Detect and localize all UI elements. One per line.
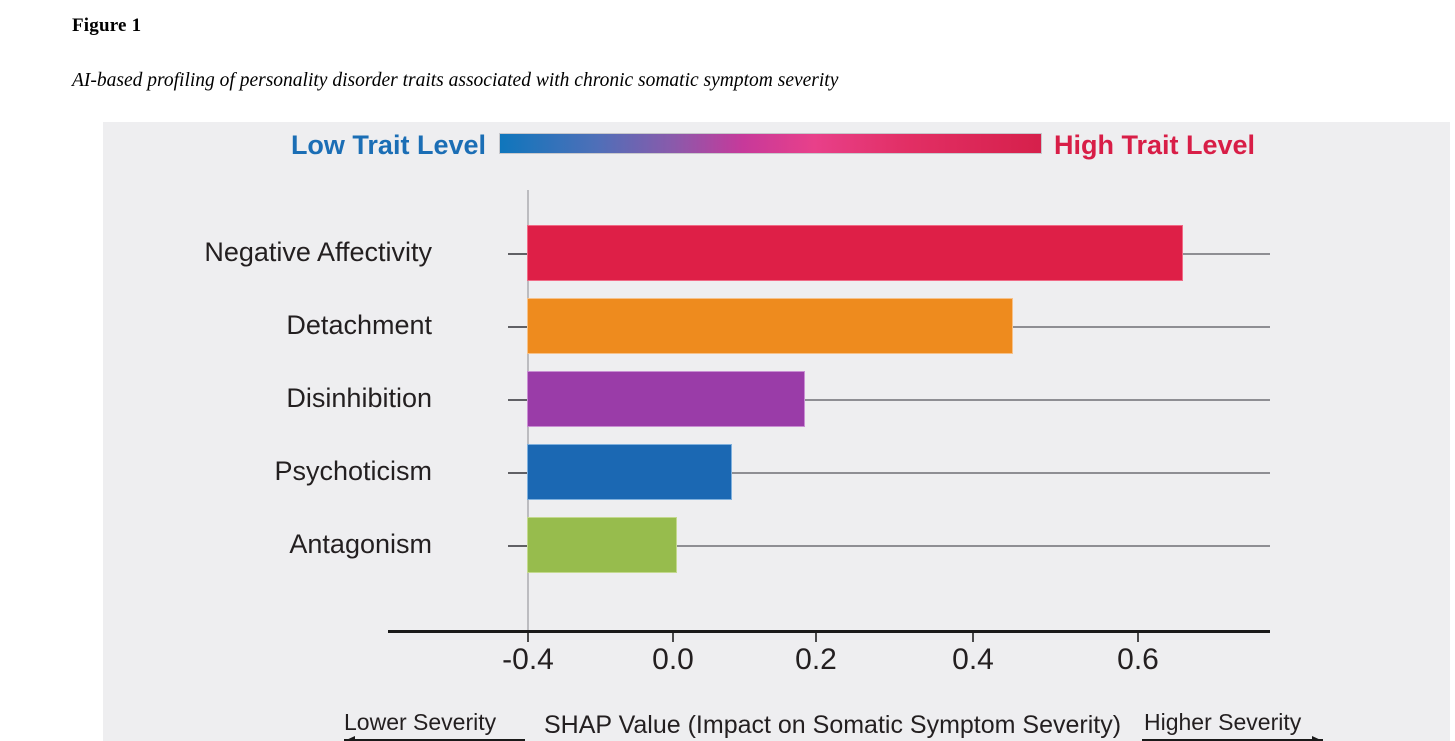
x-axis-title: SHAP Value (Impact on Somatic Symptom Se… [544,711,1121,740]
row-connector-tick [508,545,527,547]
category-label-negative-affectivity: Negative Affectivity [204,237,432,268]
bar-row[interactable]: Negative Affectivity [103,217,1450,290]
figure-caption: AI-based profiling of personality disord… [72,70,838,92]
bar-psychoticism[interactable] [527,444,732,500]
x-axis-tick-label: 0.0 [652,643,694,677]
category-label-disinhibition: Disinhibition [286,383,432,414]
x-axis-tick-label: -0.4 [502,643,554,677]
category-label-detachment: Detachment [286,310,432,341]
axis-title-row: Lower Severity SHAP Value (Impact on Som… [103,705,1450,741]
lower-severity-annotation: Lower Severity [344,705,529,741]
bar-row[interactable]: Detachment [103,290,1450,363]
row-connector-tick [508,326,527,328]
x-axis-tick [815,633,817,642]
bar-disinhibition[interactable] [527,371,805,427]
bar-row[interactable]: Disinhibition [103,363,1450,436]
x-axis-tick [527,633,529,642]
legend-high-trait-label: High Trait Level [1054,130,1255,161]
chart-panel: Low Trait Level High Trait Level [103,122,1450,741]
row-connector-tick [508,253,527,255]
x-axis-tick [972,633,974,642]
x-axis-tick [1137,633,1139,642]
trait-level-gradient-bar [499,133,1042,154]
category-label-psychoticism: Psychoticism [274,456,432,487]
plot-area: Negative Affectivity Detachment Disinhib… [103,180,1450,741]
left-arrow-icon [344,733,525,741]
right-arrow-icon [1142,733,1323,741]
bar-antagonism[interactable] [527,517,677,573]
higher-severity-label: Higher Severity [1144,709,1301,736]
x-axis-tick-label: 0.2 [795,643,837,677]
bar-row[interactable]: Psychoticism [103,436,1450,509]
legend-low-trait-label: Low Trait Level [281,130,486,161]
bar-negative-affectivity[interactable] [527,225,1183,281]
bar-row[interactable]: Antagonism [103,509,1450,582]
category-label-antagonism: Antagonism [289,529,432,560]
x-axis-tick-label: 0.6 [1117,643,1159,677]
figure-number: Figure 1 [72,15,141,37]
bar-detachment[interactable] [527,298,1013,354]
row-connector-tick [508,399,527,401]
lower-severity-label: Lower Severity [344,709,496,736]
x-axis-tick [672,633,674,642]
x-axis-tick-label: 0.4 [952,643,994,677]
trait-level-legend: Low Trait Level High Trait Level [103,122,1450,180]
higher-severity-annotation: Higher Severity [1142,705,1327,741]
row-connector-tick [508,472,527,474]
